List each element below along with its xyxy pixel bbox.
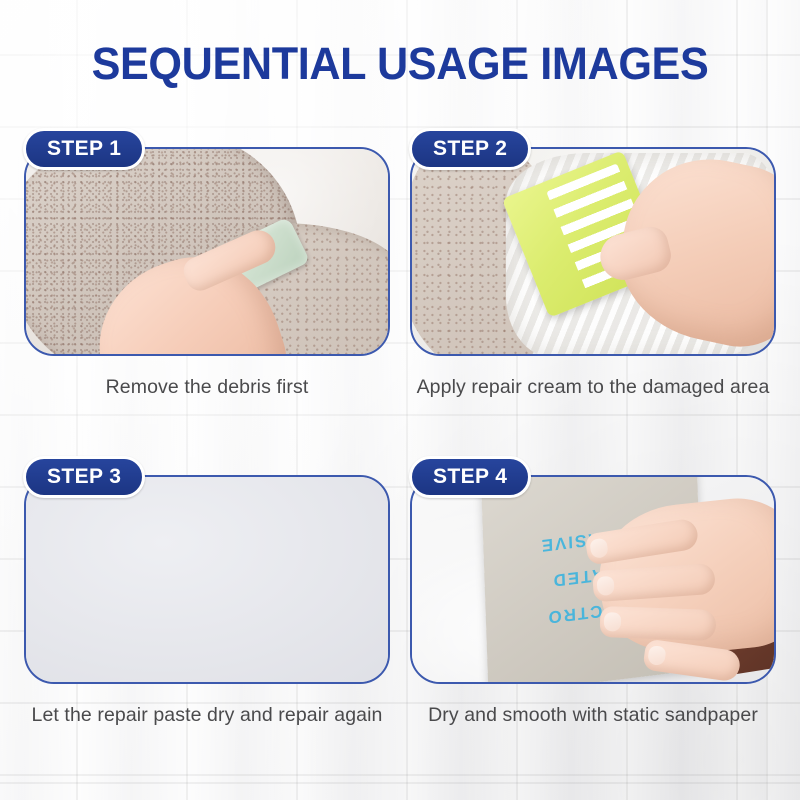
step-caption-3: Let the repair paste dry and repair agai…: [24, 701, 390, 729]
step-1-photo-card: [24, 147, 390, 356]
page-title: SEQUENTIAL USAGE IMAGES: [16, 39, 784, 89]
step-badge-label: STEP 3: [47, 465, 121, 489]
photo-dried-smooth-wall: [26, 477, 388, 682]
step-badge-4: STEP 4: [409, 456, 531, 498]
step-badge-2: STEP 2: [409, 128, 531, 170]
step-badge-label: STEP 1: [47, 137, 121, 161]
step-card-4: ELECTRO COATED ABRASIVE STEP 4 Dry and s…: [410, 456, 776, 729]
photo-remove-debris: [26, 149, 388, 354]
step-3-photo-card: [24, 475, 390, 684]
photo-sand-smooth: ELECTRO COATED ABRASIVE: [412, 477, 774, 682]
step-badge-label: STEP 4: [433, 465, 507, 489]
photo-apply-repair-cream: [412, 149, 774, 354]
step-card-2: STEP 2 Apply repair cream to the damaged…: [410, 128, 776, 401]
step-badge-label: STEP 2: [433, 137, 507, 161]
step-badge-3: STEP 3: [23, 456, 145, 498]
step-caption-1: Remove the debris first: [24, 373, 390, 401]
step-4-photo-card: ELECTRO COATED ABRASIVE: [410, 475, 776, 684]
step-card-3: STEP 3 Let the repair paste dry and repa…: [24, 456, 390, 729]
step-card-1: STEP 1 Remove the debris first: [24, 128, 390, 401]
step-badge-1: STEP 1: [23, 128, 145, 170]
step-caption-4: Dry and smooth with static sandpaper: [410, 701, 776, 729]
steps-grid: STEP 1 Remove the debris first STEP 2 Ap…: [0, 128, 800, 788]
finger-shape: [600, 606, 717, 641]
step-2-photo-card: [410, 147, 776, 356]
step-caption-2: Apply repair cream to the damaged area: [410, 373, 776, 401]
